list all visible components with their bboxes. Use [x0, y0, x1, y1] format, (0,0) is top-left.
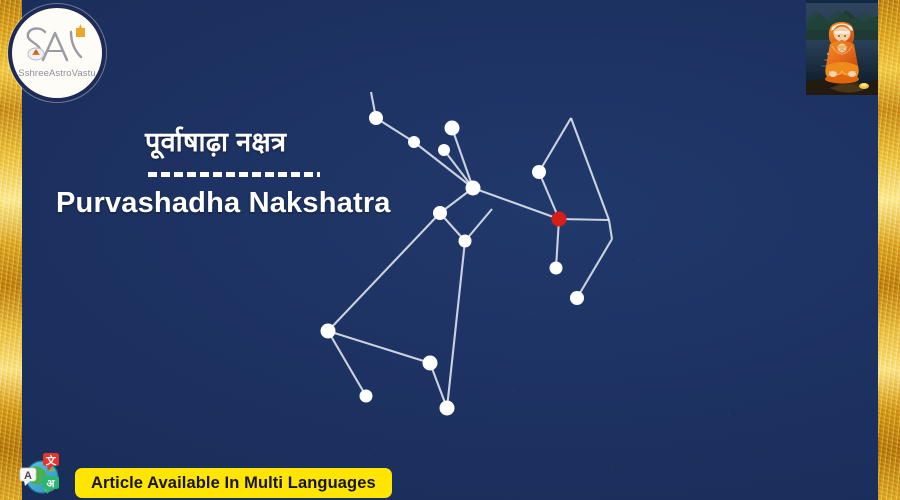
title-english: Purvashadha Nakshatra	[50, 187, 470, 220]
constellation-line	[539, 118, 571, 172]
gold-border-right	[878, 0, 900, 500]
constellation-line	[559, 219, 609, 220]
constellation-star	[570, 291, 584, 305]
headline-block: पूर्वाषाढ़ा नक्षत्र Purvashadha Nakshatr…	[50, 126, 470, 220]
svg-text:A: A	[24, 470, 32, 482]
banner-label: Article Available In Multi Languages	[91, 474, 376, 493]
seated-saint-photo	[806, 0, 878, 95]
constellation-star	[440, 401, 455, 416]
constellation-line	[571, 118, 609, 220]
sa-monogram-logo-icon	[12, 20, 102, 72]
title-hindi: पूर्वाषाढ़ा नक्षत्र	[50, 126, 470, 160]
gold-texture	[878, 0, 900, 500]
constellation-star	[550, 262, 563, 275]
brand-logo[interactable]: SshreeAstroVastu	[8, 4, 106, 102]
highlight-star	[552, 212, 567, 227]
constellation-star	[360, 390, 373, 403]
brand-name: SshreeAstroVastu	[12, 68, 102, 79]
constellation-line	[473, 188, 559, 219]
constellation-graphic	[0, 0, 900, 500]
constellation-line	[447, 241, 465, 408]
constellation-star	[423, 356, 438, 371]
constellation-star	[321, 324, 336, 339]
title-divider	[148, 172, 320, 177]
multi-language-banner[interactable]: Article Available In Multi Languages	[75, 468, 392, 498]
constellation-star	[459, 235, 472, 248]
constellation-star	[532, 165, 546, 179]
svg-text:文: 文	[45, 454, 57, 467]
constellation-line	[328, 213, 440, 331]
constellation-line	[577, 239, 612, 298]
constellation-line	[609, 220, 612, 239]
poster-canvas: SshreeAstroVastu	[0, 0, 900, 500]
svg-text:अ: अ	[46, 478, 55, 490]
constellation-star	[369, 111, 383, 125]
google-translate-icon[interactable]: A 文 अ	[18, 452, 64, 496]
